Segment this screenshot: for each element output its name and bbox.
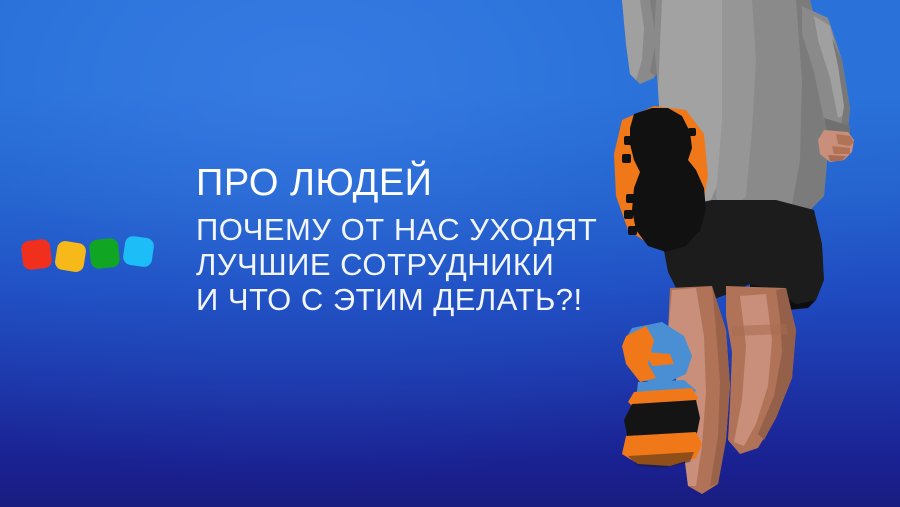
square-red-icon bbox=[20, 238, 52, 270]
subtitle-line-2: ЛУЧШИЕ СОТРУДНИКИ bbox=[196, 247, 597, 282]
subtitle-block: ПОЧЕМУ ОТ НАС УХОДЯТ ЛУЧШИЕ СОТРУДНИКИ И… bbox=[196, 212, 597, 317]
right-leg-lifted bbox=[726, 286, 796, 454]
brand-logo bbox=[22, 236, 162, 278]
shoe-sole-tread bbox=[614, 106, 708, 252]
square-cyan-icon bbox=[122, 235, 155, 268]
page-title: ПРО ЛЮДЕЙ bbox=[196, 162, 597, 204]
subtitle-line-1: ПОЧЕМУ ОТ НАС УХОДЯТ bbox=[196, 212, 597, 247]
square-amber-icon bbox=[54, 240, 87, 273]
headline-block: ПРО ЛЮДЕЙ ПОЧЕМУ ОТ НАС УХОДЯТ ЛУЧШИЕ СО… bbox=[196, 162, 597, 317]
slide-canvas: ПРО ЛЮДЕЙ ПОЧЕМУ ОТ НАС УХОДЯТ ЛУЧШИЕ СО… bbox=[0, 0, 900, 507]
running-woman-illustration bbox=[600, 0, 900, 507]
shoe-planted bbox=[622, 380, 702, 468]
subtitle-line-3: И ЧТО С ЭТИМ ДЕЛАТЬ?! bbox=[196, 282, 597, 317]
square-green-icon bbox=[89, 238, 121, 270]
